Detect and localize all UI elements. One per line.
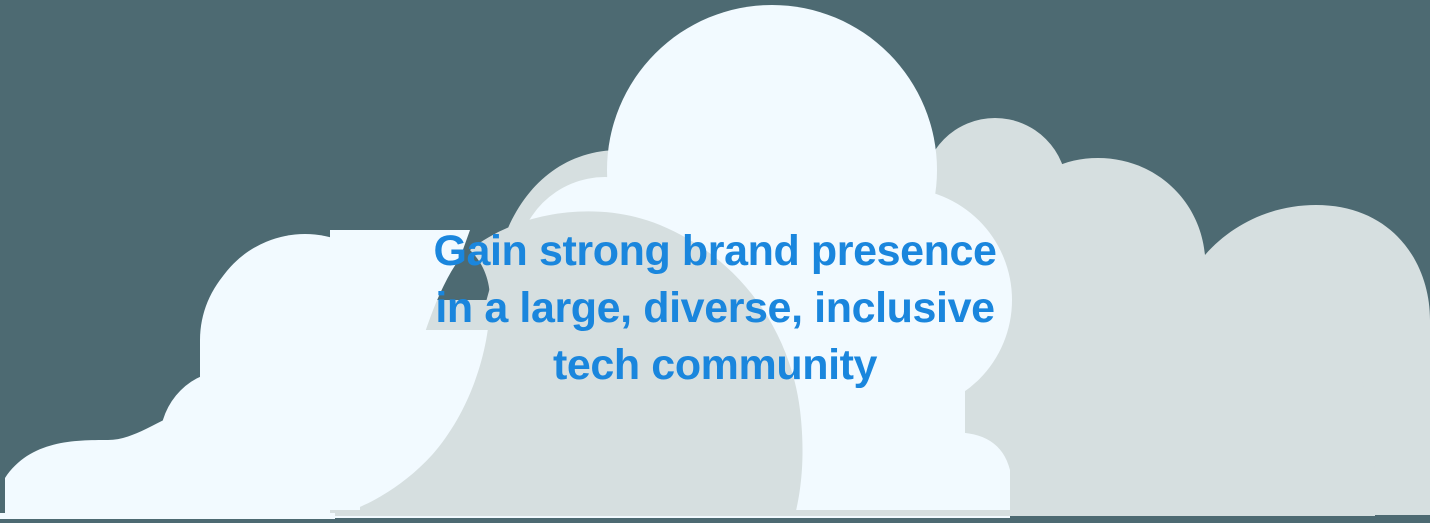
cloud-illustration — [0, 0, 1430, 523]
white-cloud-front-puffs — [5, 240, 400, 518]
bottom-strip-gray — [330, 510, 1375, 516]
cloud-banner: Gain strong brand presence in a large, d… — [0, 0, 1430, 523]
gray-cloud-right-edge — [1200, 340, 1375, 515]
bottom-strip-white — [0, 513, 335, 519]
white-front-block — [200, 340, 360, 518]
